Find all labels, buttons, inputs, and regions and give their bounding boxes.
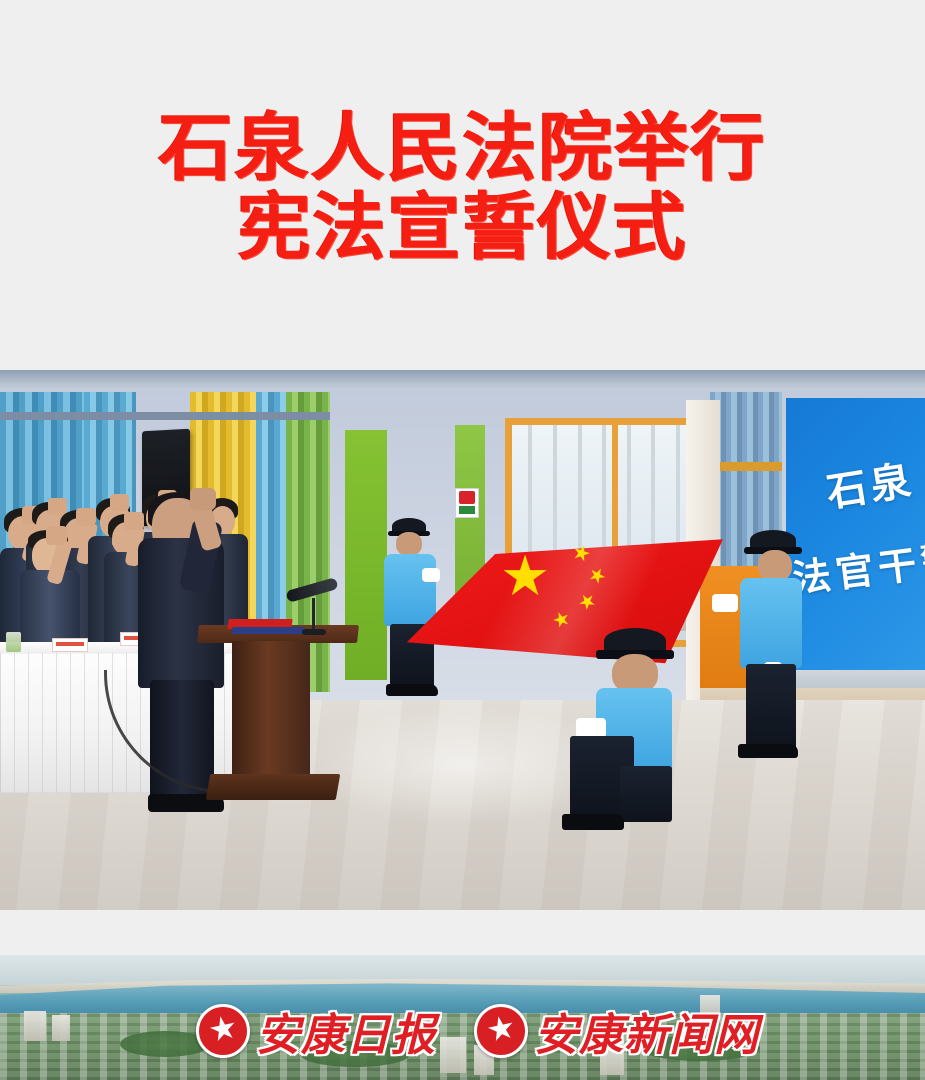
headline-line-2: 宪法宣誓仪式 [0, 188, 925, 268]
curtain-right-band [710, 462, 782, 471]
microphone-base [302, 629, 326, 635]
safety-sign [455, 488, 479, 518]
banner-line-1: 石泉 [822, 447, 918, 518]
document-folder [232, 627, 305, 634]
flag-star-large: ★ [500, 548, 550, 604]
watermark-label: 安康新闻网 [534, 999, 759, 1063]
footer-building [24, 1011, 46, 1041]
main-photograph: 石泉 法官干警 [0, 370, 925, 910]
curtain-rail [0, 412, 330, 420]
footer-building [440, 1037, 466, 1073]
stage-banner: 石泉 法官干警 [786, 398, 925, 693]
name-card [52, 638, 88, 652]
watermark-ankang-daily: 安康日报 [196, 1000, 436, 1062]
star-emblem-icon [196, 1004, 250, 1058]
microphone-stem [312, 598, 315, 632]
podium-base [206, 774, 341, 800]
poster-page: 石泉人民法院举行 宪法宣誓仪式 [0, 0, 925, 1080]
watermark-ankang-news: 安康新闻网 [474, 1000, 759, 1062]
star-emblem-icon [474, 1004, 528, 1058]
headline-block: 石泉人民法院举行 宪法宣誓仪式 [0, 108, 925, 268]
oath-leader-raised-fist [190, 488, 216, 510]
banner-line-2: 法官干警 [789, 528, 925, 604]
watermark-label: 安康日报 [256, 999, 436, 1063]
headline-line-1: 石泉人民法院举行 [0, 108, 925, 188]
podium-column [232, 641, 310, 781]
tea-cup [6, 632, 21, 652]
footer-building [52, 1015, 70, 1041]
footer-aerial-photo [0, 955, 925, 1080]
